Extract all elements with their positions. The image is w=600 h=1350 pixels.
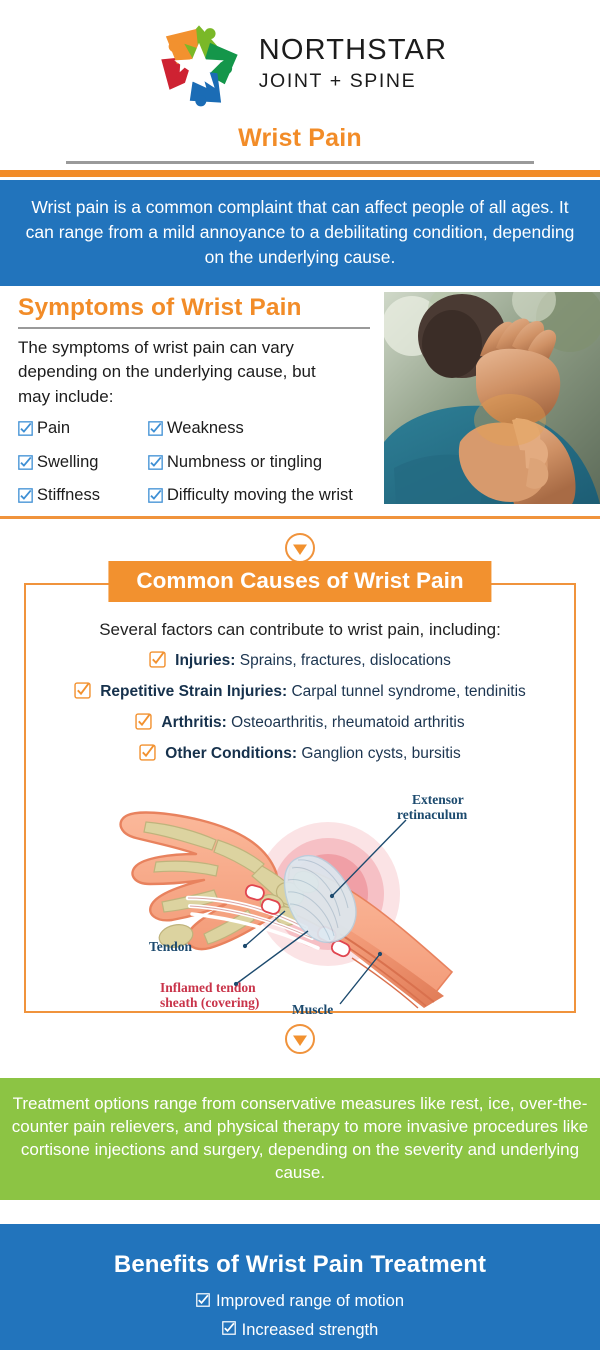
list-item-term: Injuries: (175, 652, 235, 669)
list-item: Difficulty moving the wrist (148, 487, 376, 507)
checkbox-checked-icon (222, 1321, 236, 1339)
list-item: Improved range of motion (10, 1293, 590, 1322)
intro-text: Wrist pain is a common complaint that ca… (26, 197, 575, 267)
checkbox-checked-icon (148, 488, 163, 507)
list-item-label: Repetitive Strain Injuries: Carpal tunne… (100, 683, 526, 700)
brand-name: NORTHSTAR (259, 36, 448, 65)
list-item-label: Swelling (37, 454, 98, 471)
list-item-label: Other Conditions: Ganglion cysts, bursit… (165, 745, 460, 762)
northstar-people-star-logo-icon (153, 18, 245, 110)
label-inflamed-sheath-line1: Inflamed tendon (160, 980, 256, 995)
list-item: Arthritis: Osteoarthritis, rheumatoid ar… (26, 714, 574, 734)
list-item: Increased strength (10, 1321, 590, 1350)
symptoms-description: The symptoms of wrist pain can vary depe… (18, 336, 348, 410)
list-item: Repetitive Strain Injuries: Carpal tunne… (26, 683, 574, 703)
title-divider (66, 161, 534, 164)
list-item-label: Arthritis: Osteoarthritis, rheumatoid ar… (161, 714, 464, 731)
symptoms-list: Pain Weakness (18, 420, 376, 507)
label-inflamed-sheath-line2: sheath (covering) (160, 995, 259, 1010)
list-item-label: Numbness or tingling (167, 454, 322, 471)
list-item: Weakness (148, 420, 376, 440)
treatment-text: Treatment options range from conservativ… (12, 1094, 588, 1183)
list-item-label: Weakness (167, 420, 244, 437)
label-tendon: Tendon (149, 939, 193, 954)
list-item: Pain (18, 420, 148, 440)
list-item-detail: Sprains, fractures, dislocations (240, 652, 451, 669)
chevron-down-circle-icon (284, 1042, 316, 1059)
brand-wordmark: NORTHSTAR JOINT + SPINE (259, 36, 448, 92)
benefits-section: Benefits of Wrist Pain Treatment Improve… (0, 1224, 600, 1350)
symptoms-heading: Symptoms of Wrist Pain (18, 294, 376, 322)
header: NORTHSTAR JOINT + SPINE Wrist Pain (0, 0, 600, 164)
banner-gap (0, 1200, 600, 1224)
label-extensor-retinaculum-line2: retinaculum (397, 807, 468, 822)
orange-accent-bar (0, 170, 600, 177)
list-item-term: Arthritis: (161, 714, 226, 731)
list-item-term: Other Conditions: (165, 745, 297, 762)
list-item-label: Stiffness (37, 487, 100, 504)
wrist-anatomy-diagram: Extensor retinaculum Tendon Inflamed ten… (26, 776, 574, 1026)
label-muscle: Muscle (292, 1002, 333, 1017)
symptoms-divider (18, 327, 370, 329)
label-extensor-retinaculum-line1: Extensor (412, 792, 464, 807)
list-item-label: Difficulty moving the wrist (167, 487, 353, 504)
intro-banner: Wrist pain is a common complaint that ca… (0, 180, 600, 286)
list-item-detail: Ganglion cysts, bursitis (301, 745, 460, 762)
checkbox-checked-icon (148, 455, 163, 474)
list-item: Numbness or tingling (148, 454, 376, 474)
checkbox-checked-icon (149, 651, 166, 672)
causes-heading: Common Causes of Wrist Pain (108, 561, 491, 603)
list-item: Swelling (18, 454, 148, 474)
causes-section: Common Causes of Wrist Pain Several fact… (24, 583, 576, 1013)
list-item: Other Conditions: Ganglion cysts, bursit… (26, 745, 574, 765)
checkbox-checked-icon (18, 455, 33, 474)
checkbox-checked-icon (135, 713, 152, 734)
list-item-label: Injuries: Sprains, fractures, dislocatio… (175, 652, 451, 669)
page-title: Wrist Pain (0, 124, 600, 153)
checkbox-checked-icon (74, 682, 91, 703)
checkbox-checked-icon (196, 1293, 210, 1311)
list-item-detail: Carpal tunnel syndrome, tendinitis (291, 683, 525, 700)
list-item-label: Increased strength (242, 1322, 379, 1339)
list-item: Stiffness (18, 487, 148, 507)
symptoms-section: Symptoms of Wrist Pain The symptoms of w… (0, 286, 600, 516)
checkbox-checked-icon (18, 488, 33, 507)
brand-tagline: JOINT + SPINE (259, 72, 448, 92)
treatment-banner: Treatment options range from conservativ… (0, 1078, 600, 1200)
brand-logo: NORTHSTAR JOINT + SPINE (0, 18, 600, 110)
list-item: Injuries: Sprains, fractures, dislocatio… (26, 652, 574, 672)
checkbox-checked-icon (139, 744, 156, 765)
checkbox-checked-icon (18, 421, 33, 440)
checkbox-checked-icon (148, 421, 163, 440)
list-item-label: Pain (37, 420, 70, 437)
infographic-page: NORTHSTAR JOINT + SPINE Wrist Pain Wrist… (0, 0, 600, 1350)
symptoms-photo (384, 292, 600, 504)
symptoms-content: Symptoms of Wrist Pain The symptoms of w… (18, 294, 376, 507)
benefits-heading: Benefits of Wrist Pain Treatment (10, 1251, 590, 1279)
list-item-term: Repetitive Strain Injuries: (100, 683, 287, 700)
list-item-label: Improved range of motion (216, 1293, 404, 1310)
list-item-detail: Osteoarthritis, rheumatoid arthritis (231, 714, 464, 731)
causes-list: Injuries: Sprains, fractures, dislocatio… (26, 652, 574, 765)
